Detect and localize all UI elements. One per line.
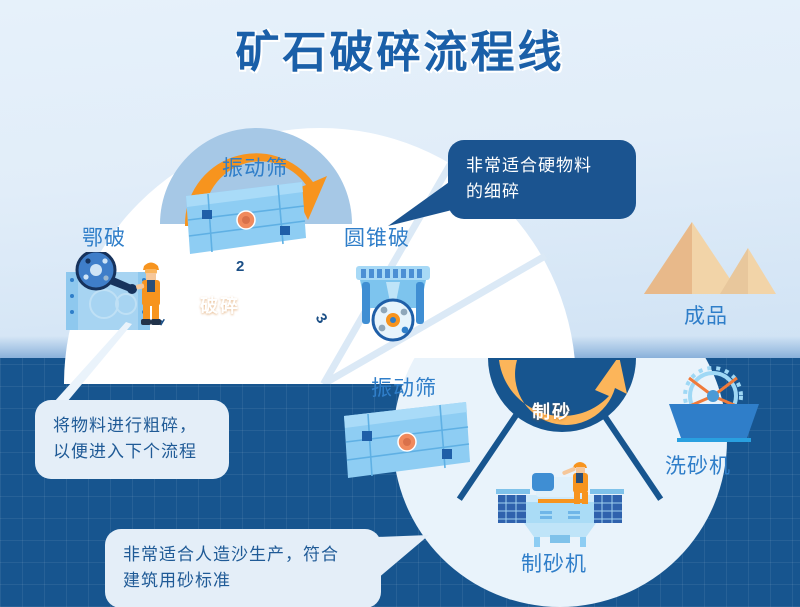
- callout-sand-maker-note: 非常适合人造沙生产，符合 建筑用砂标准: [105, 529, 381, 607]
- infographic-canvas: 破碎 1 2 3 鄂破 振动筛 圆锥破: [0, 0, 800, 607]
- stage-label-vibrating-screen-bottom: 振动筛: [371, 372, 437, 402]
- product-label: 成品: [684, 300, 728, 330]
- bottom-arc-label: 制砂: [532, 398, 572, 424]
- vibrating-screen-icon-bottom: [340, 400, 476, 492]
- worker-figure-icon: [136, 256, 166, 326]
- page-title: 矿石破碎流程线: [0, 16, 800, 80]
- sand-washer-icon: [655, 362, 773, 450]
- callout-jaw-crusher-text: 将物料进行粗碎， 以便进入下个流程: [35, 400, 229, 479]
- sand-pile-icon: [640, 216, 780, 306]
- cone-crusher-icon: [346, 258, 440, 344]
- callout-tail-sand: [377, 535, 429, 591]
- callout-jaw-crusher-note: 将物料进行粗碎， 以便进入下个流程: [35, 400, 229, 479]
- stage-label-jaw-crusher: 鄂破: [82, 222, 126, 252]
- vibrating-screen-icon-top: [182, 180, 310, 266]
- sand-maker-icon: [490, 455, 630, 547]
- stage-label-vibrating-screen-top: 振动筛: [222, 152, 288, 182]
- top-arc-label: 破碎: [200, 292, 240, 318]
- callout-cone-crusher-text: 非常适合硬物料 的细碎: [448, 140, 636, 219]
- stage-label-sand-washer: 洗砂机: [665, 450, 731, 480]
- callout-leader-jaw: [52, 322, 132, 408]
- callout-sand-maker-text: 非常适合人造沙生产，符合 建筑用砂标准: [105, 529, 381, 607]
- callout-cone-crusher-note: 非常适合硬物料 的细碎: [448, 140, 636, 219]
- stage-label-sand-maker: 制砂机: [521, 548, 587, 578]
- callout-tail-cone: [388, 176, 452, 232]
